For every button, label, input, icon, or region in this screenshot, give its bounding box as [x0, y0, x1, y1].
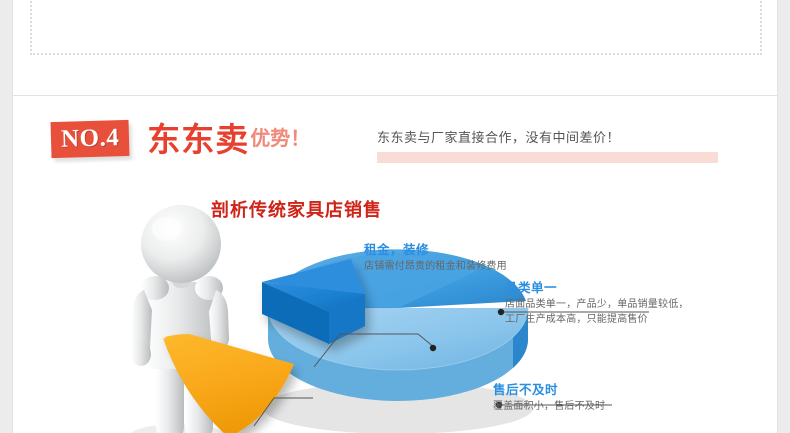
callout-title: 品类单一: [505, 280, 689, 296]
brand-cell-4: ✆ 富家美佳 FUJIAMEIJIA: [579, 0, 762, 44]
callout-title: 售后不及时: [493, 382, 605, 398]
brand-logo-row: ifree 发睿 ⌂ AILIGONG —— 爱丽宫 —— AISH: [13, 0, 779, 44]
callout-body-line1: 店面品类单一，产品少，单品销量较低，: [505, 298, 689, 313]
callout-body-line2: 工厂生产成本高，只能提高售价: [505, 313, 689, 328]
page-root: ifree 发睿 ⌂ AILIGONG —— 爱丽宫 —— AISH: [0, 0, 790, 433]
chart-illustration-area: 租金，装修 店铺需付昂贵的租金和装修费用 品类单一 店面品类单一，产品少，单品销…: [13, 96, 779, 433]
brand-strip-panel: ifree 发睿 ⌂ AILIGONG —— 爱丽宫 —— AISH: [12, 0, 778, 110]
brand-cell-3: AISHN 爱尚妮: [396, 0, 579, 44]
callout-rent-renovation: 租金，装修 店铺需付昂贵的租金和装修费用: [364, 242, 507, 275]
brand-cell-2: ⌂ AILIGONG —— 爱丽宫 ——: [214, 0, 397, 44]
callout-title: 租金，装修: [364, 242, 507, 258]
callout-dot-1: [430, 345, 436, 351]
main-content-panel: NO.4 东东卖 优势！ 东东卖与厂家直接合作，没有中间差价！ 剖析传统家具店销…: [12, 95, 778, 433]
callout-after-sales: 售后不及时 覆盖面积小，售后不及时: [493, 382, 605, 415]
callout-body: 覆盖面积小，售后不及时: [493, 400, 605, 415]
callout-dot-2: [498, 309, 504, 315]
brand-cell-1: ifree 发睿: [31, 0, 214, 44]
callout-body: 店铺需付昂贵的租金和装修费用: [364, 260, 507, 275]
callout-single-category: 品类单一 店面品类单一，产品少，单品销量较低， 工厂生产成本高，只能提高售价: [505, 280, 689, 327]
